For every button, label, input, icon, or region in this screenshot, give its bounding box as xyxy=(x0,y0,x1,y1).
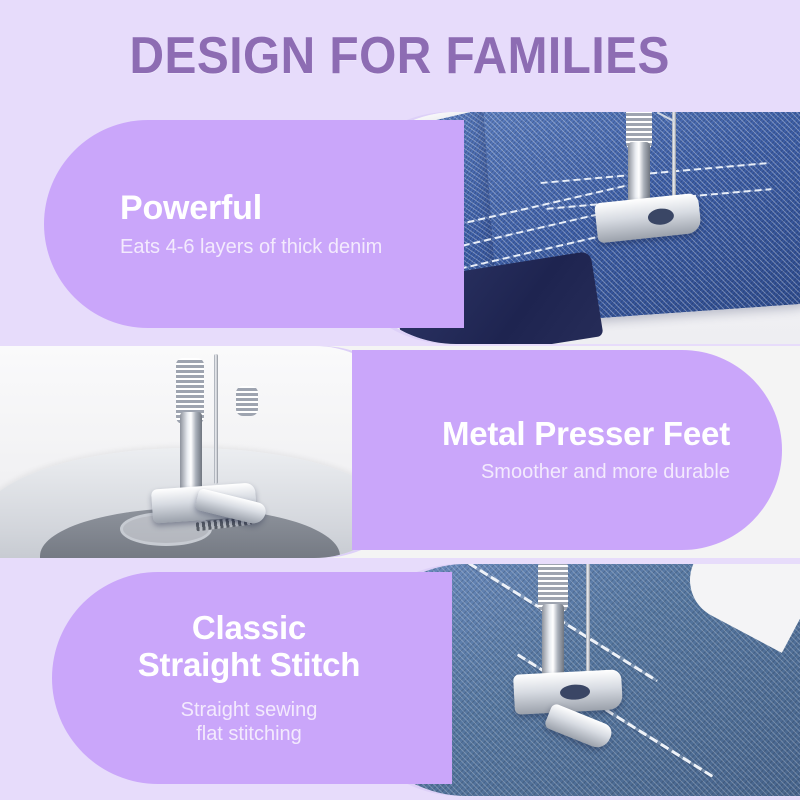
feature-row-classic-straight-stitch: Classic Straight Stitch Straight sewing … xyxy=(0,560,800,800)
presser-foot-shank xyxy=(628,142,650,204)
needle xyxy=(586,564,590,676)
thumb-screw-icon xyxy=(236,386,258,416)
needle xyxy=(214,354,218,484)
feature-subtitle: Eats 4-6 layers of thick denim xyxy=(120,235,382,259)
feature-subtitle: Straight sewing flat stitching xyxy=(114,698,384,746)
feature-title: Powerful xyxy=(120,189,262,227)
poster-header: DESIGN FOR FAMILIES xyxy=(0,0,800,112)
feature-title: Classic Straight Stitch xyxy=(114,610,384,684)
presser-foot-shank xyxy=(542,604,564,682)
feature-text-metal-presser-feet: Metal Presser Feet Smoother and more dur… xyxy=(352,350,782,550)
presser-foot-slot xyxy=(647,207,675,226)
product-feature-poster: DESIGN FOR FAMILIES xyxy=(0,0,800,800)
page-title: DESIGN FOR FAMILIES xyxy=(130,26,670,86)
feature-row-powerful: Powerful Eats 4-6 layers of thick denim xyxy=(0,112,800,344)
presser-foot-slot xyxy=(560,684,591,701)
feature-title: Metal Presser Feet xyxy=(442,416,730,453)
feature-subtitle: Smoother and more durable xyxy=(481,460,730,484)
presser-foot-shank xyxy=(180,412,202,498)
fabric-edge-highlight xyxy=(676,564,800,653)
feature-text-classic-straight-stitch: Classic Straight Stitch Straight sewing … xyxy=(52,572,452,784)
needle xyxy=(672,112,676,202)
feature-row-metal-presser-feet: Metal Presser Feet Smoother and more dur… xyxy=(0,346,800,558)
feature-text-powerful: Powerful Eats 4-6 layers of thick denim xyxy=(44,120,464,328)
